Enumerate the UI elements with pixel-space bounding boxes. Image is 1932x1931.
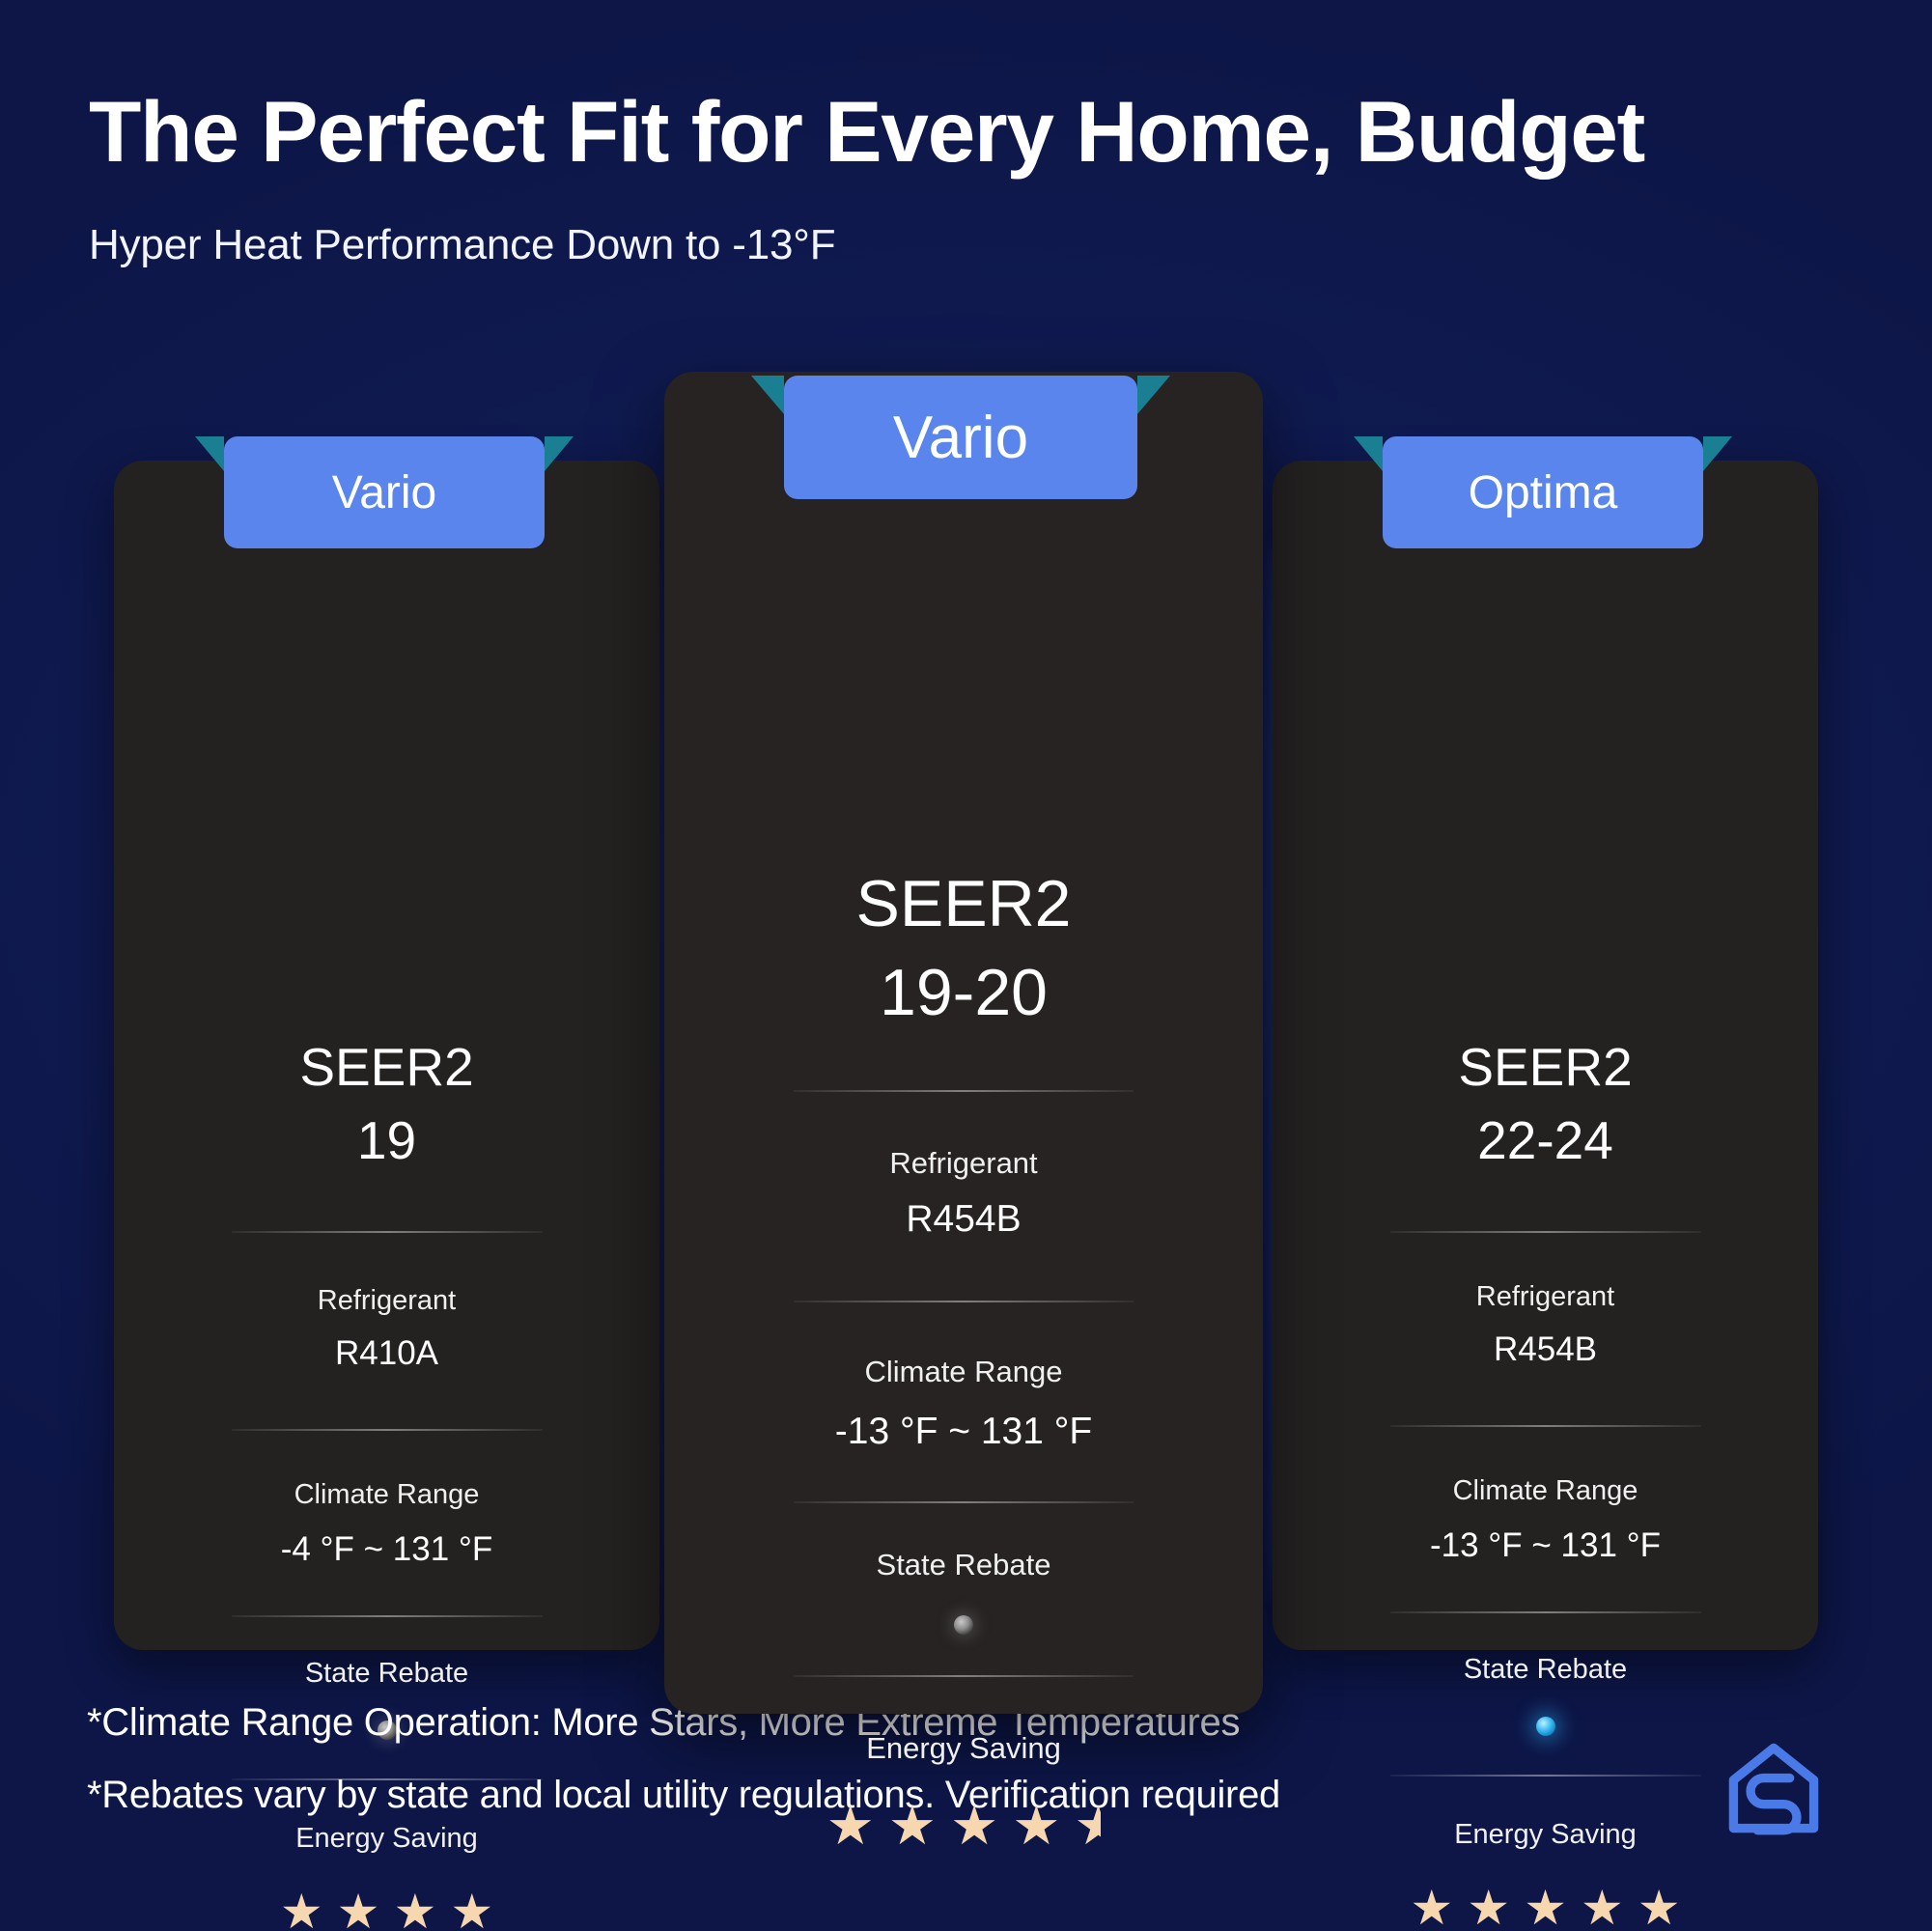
ribbon-fold-left-icon	[751, 376, 784, 414]
product-card-vario-19[interactable]: SEER2 19 Refrigerant R410A Climate Range…	[114, 461, 659, 1650]
state-rebate-label: State Rebate	[1273, 1654, 1818, 1686]
refrigerant-label: Refrigerant	[114, 1285, 659, 1317]
refrigerant-label: Refrigerant	[664, 1146, 1263, 1181]
star-icon: ★	[337, 1888, 380, 1931]
card-badge-optima[interactable]: Optima	[1383, 436, 1703, 548]
climate-range-label: Climate Range	[1273, 1475, 1818, 1507]
climate-range-label: Climate Range	[114, 1479, 659, 1511]
refrigerant-value: R454B	[1273, 1330, 1818, 1369]
divider	[794, 1501, 1134, 1503]
state-rebate-indicator-icon	[1536, 1717, 1555, 1736]
product-card-optima[interactable]: SEER2 22-24 Refrigerant R454B Climate Ra…	[1273, 461, 1818, 1650]
energy-saving-stars: ★★★★★	[664, 1799, 1263, 1861]
product-card-vario-19-20[interactable]: SEER2 19-20 Refrigerant R454B Climate Ra…	[664, 372, 1263, 1714]
energy-saving-label: Energy Saving	[664, 1731, 1263, 1766]
seer-label: SEER2	[1273, 1036, 1818, 1098]
climate-range-value: -13 °F ~ 131 °F	[664, 1411, 1263, 1453]
climate-range-label: Climate Range	[664, 1355, 1263, 1389]
card-body: SEER2 19-20 Refrigerant R454B Climate Ra…	[664, 866, 1263, 1861]
card-badge-vario-19-20[interactable]: Vario	[784, 376, 1137, 499]
refrigerant-value: R454B	[664, 1198, 1263, 1241]
ribbon-fold-left-icon	[1354, 436, 1383, 471]
seer-value: 19	[114, 1109, 659, 1171]
divider	[794, 1090, 1134, 1092]
divider	[232, 1231, 543, 1233]
state-rebate-indicator-icon	[954, 1615, 973, 1635]
star-icon: ★	[1410, 1884, 1453, 1931]
ribbon-fold-right-icon	[1703, 436, 1732, 471]
energy-saving-stars: ★★★★	[114, 1888, 659, 1931]
star-half-icon: ★	[1074, 1799, 1101, 1861]
star-icon: ★	[1467, 1884, 1510, 1931]
star-icon: ★	[888, 1799, 937, 1861]
infographic-poster: The Perfect Fit for Every Home, Budget H…	[0, 0, 1932, 1931]
ribbon-fold-right-icon	[1137, 376, 1170, 414]
climate-range-value: -13 °F ~ 131 °F	[1273, 1526, 1818, 1565]
star-icon: ★	[1638, 1884, 1681, 1931]
refrigerant-label: Refrigerant	[1273, 1281, 1818, 1313]
card-badge-vario-19[interactable]: Vario	[224, 436, 545, 548]
product-card-deck: SEER2 19 Refrigerant R410A Climate Range…	[0, 0, 1932, 1931]
seer-label: SEER2	[114, 1036, 659, 1098]
divider	[232, 1429, 543, 1431]
refrigerant-value: R410A	[114, 1334, 659, 1373]
state-rebate-label: State Rebate	[664, 1548, 1263, 1582]
divider	[794, 1675, 1134, 1677]
star-icon: ★	[826, 1799, 875, 1861]
divider	[1390, 1231, 1701, 1233]
star-icon: ★	[950, 1799, 998, 1861]
star-icon: ★	[280, 1888, 323, 1931]
star-icon: ★	[1581, 1884, 1624, 1931]
brand-logo-icon	[1723, 1738, 1824, 1838]
star-icon: ★	[450, 1888, 493, 1931]
energy-saving-stars: ★★★★★	[1273, 1884, 1818, 1931]
state-rebate-label: State Rebate	[114, 1658, 659, 1690]
climate-range-value: -4 °F ~ 131 °F	[114, 1530, 659, 1569]
star-icon: ★	[1012, 1799, 1060, 1861]
ribbon-fold-left-icon	[195, 436, 224, 471]
divider	[1390, 1425, 1701, 1427]
divider	[1390, 1775, 1701, 1777]
energy-saving-label: Energy Saving	[114, 1823, 659, 1855]
seer-value: 19-20	[664, 955, 1263, 1030]
seer-label: SEER2	[664, 866, 1263, 941]
divider	[1390, 1611, 1701, 1613]
seer-value: 22-24	[1273, 1109, 1818, 1171]
star-icon: ★	[394, 1888, 437, 1931]
divider	[794, 1301, 1134, 1302]
star-icon: ★	[1524, 1884, 1567, 1931]
ribbon-fold-right-icon	[545, 436, 574, 471]
divider	[232, 1615, 543, 1617]
